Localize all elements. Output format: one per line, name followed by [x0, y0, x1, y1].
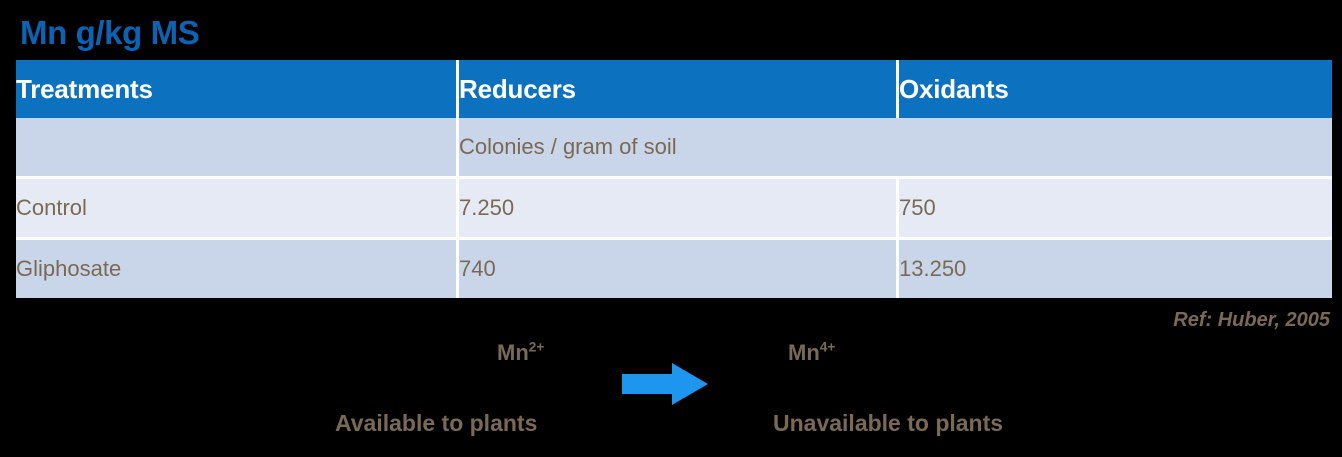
cell-treatment: Gliphosate — [16, 240, 459, 298]
mn2-species-label: Mn2+ — [497, 340, 544, 366]
unit-row-empty-cell — [16, 118, 459, 179]
mn4-species-label: Mn4+ — [788, 340, 835, 366]
cell-reducers: 7.250 — [459, 179, 899, 240]
table-row: Gliphosate 740 13.250 — [16, 240, 1332, 298]
mn2-charge: 2+ — [529, 340, 545, 355]
column-header-oxidants: Oxidants — [899, 60, 1332, 118]
table-row: Control 7.250 750 — [16, 179, 1332, 240]
table-unit-row: Colonies / gram of soil — [16, 118, 1332, 179]
column-header-treatments: Treatments — [16, 60, 459, 118]
unit-row-value: Colonies / gram of soil — [459, 118, 1332, 179]
column-header-reducers: Reducers — [459, 60, 899, 118]
page-title: Mn g/kg MS — [20, 14, 199, 52]
cell-reducers: 740 — [459, 240, 899, 298]
cell-treatment: Control — [16, 179, 459, 240]
reference-citation: Ref: Huber, 2005 — [1173, 309, 1330, 332]
mn4-charge: 4+ — [820, 340, 836, 355]
mn2-symbol: Mn — [497, 340, 529, 365]
right-arrow-icon — [622, 362, 708, 406]
cell-oxidants: 13.250 — [899, 240, 1332, 298]
cell-oxidants: 750 — [899, 179, 1332, 240]
table-header-row: Treatments Reducers Oxidants — [16, 60, 1332, 118]
results-table: Treatments Reducers Oxidants Colonies / … — [16, 60, 1332, 298]
available-to-plants-caption: Available to plants — [335, 410, 537, 437]
mn4-symbol: Mn — [788, 340, 820, 365]
unavailable-to-plants-caption: Unavailable to plants — [773, 410, 1003, 437]
